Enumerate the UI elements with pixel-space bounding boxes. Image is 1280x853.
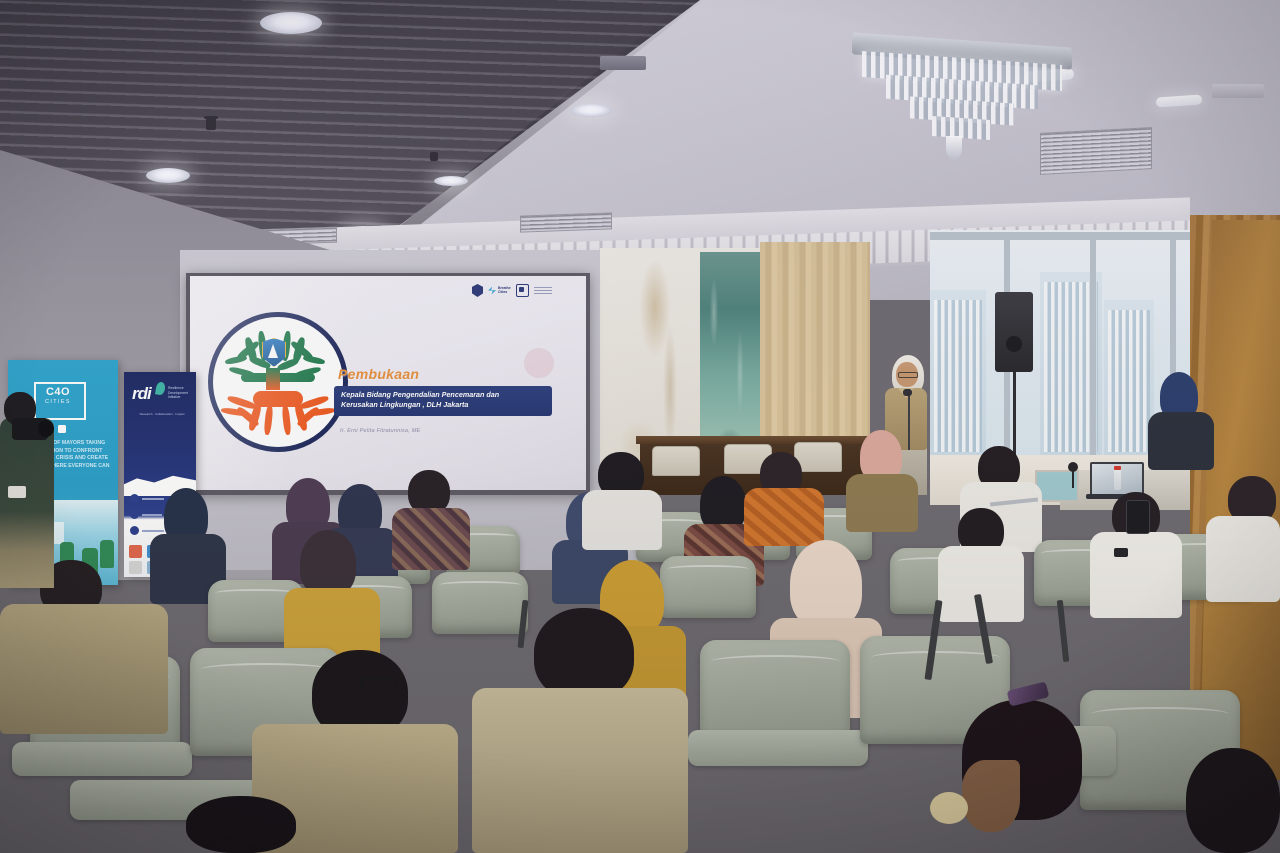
emblem-root [263,405,273,436]
jakarta-emblem-logo [472,284,483,297]
rdi-tagline: Research · Collaboration · Impact [134,412,190,416]
c40-brand-sublabel: CITIES [34,399,82,405]
slide-speaker-name: Ir. Erni Pelita Fitratunnisa, ME [340,428,540,434]
sprinkler-icon [430,152,438,161]
rdi-text-line [142,530,164,532]
chair[interactable] [432,572,528,634]
speaker-glasses-icon [898,372,918,378]
head-table-chair [652,446,700,476]
attendee-torso-batik [392,508,470,570]
breathe-cities-label-2: Cities [498,291,511,295]
attendee-torso-khaki [0,604,168,734]
illustration-building [54,522,64,544]
attendee-torso-white [1206,516,1280,602]
rdi-brand-label: rdi [132,384,151,404]
ceiling-vent-icon [600,56,646,70]
attendee-head [534,608,634,700]
window-header [930,232,1210,240]
smartphone[interactable] [1126,500,1150,534]
photographer-body [0,418,54,588]
linkedin-icon [58,425,66,433]
window-mullion [1090,232,1096,460]
attendee-torso [846,474,918,532]
watch-icon [1114,548,1128,557]
sprinkler-icon [206,118,216,130]
crystal-chandelier-drop [946,136,962,160]
rdi-text-line [142,498,164,500]
chair-armrest[interactable] [688,730,868,766]
iqair-logo [516,284,529,297]
ceiling-vent-icon [1212,84,1264,98]
downlight-icon [570,104,612,117]
c40-brand-label: C4O [34,386,82,398]
microphone-icon [903,389,912,396]
attendee-head [186,796,296,853]
attendee-torso-orange [744,488,824,546]
attendee-torso-white [1090,532,1182,618]
rdi-bullet-icon [130,494,139,503]
rdi-wordmark-logo [534,287,552,295]
bottle-cap [1114,466,1121,470]
pa-speaker-stand [1013,372,1016,462]
chair[interactable] [660,556,756,618]
slide-subtitle-line-1: Kepala Bidang Pengendalian Pencemaran da… [341,390,545,400]
rdi-tile-icon [129,545,142,558]
water-bottle [1114,468,1121,490]
rdi-bullet-icon [130,510,139,519]
slide-subtitle-band: Kepala Bidang Pengendalian Pencemaran da… [334,386,552,416]
chair-armrest[interactable] [12,742,192,776]
ac-grille-icon [520,212,612,232]
downlight-icon [260,12,322,34]
attendee-hijab [790,540,862,628]
breathe-cities-mark-icon [488,287,496,295]
slide-heading: Pembukaan [338,366,419,382]
pa-speaker-cone [1006,336,1022,352]
downlight-icon [434,176,468,186]
attendee-torso-khaki [472,688,688,853]
breathe-cities-logo: Breathe Cities [488,287,511,295]
ac-grille-icon [1040,127,1152,175]
eyeglasses-icon [360,678,398,694]
attendee-face [962,760,1020,832]
emblem-trunk [266,368,280,390]
attendee-torso-white [582,490,662,550]
attendee-head [1186,748,1280,853]
rdi-brand-fullname: Resilience Development Initiative [168,386,194,400]
sprinkler-icon [204,116,218,119]
downlight-icon [146,168,190,183]
illustration-tree [100,540,114,568]
attendee-hijab [300,530,356,596]
pastry-snack [930,792,968,824]
attendee-torso [1148,412,1214,470]
microphone-stand [908,395,910,450]
rdi-tile-icon [129,561,142,574]
camera-lens-icon [38,420,54,437]
emblem-branch [225,355,248,365]
chair-leg [1057,600,1069,662]
rdi-text-line [142,514,162,516]
emblem-root [281,405,291,436]
slide-decorative-circle [524,348,554,378]
slide-logo-row: Breathe Cities [472,284,552,297]
desk-microphone-stem [1072,470,1074,488]
building-windows [934,300,982,452]
pa-loudspeaker [995,292,1033,372]
building-windows [1108,310,1150,452]
emblem-branch [303,355,326,365]
slide-subtitle-line-2: Kerusakan Lingkungan , DLH Jakarta [341,400,545,410]
rdi-bullet-icon [130,526,139,535]
conference-room-photo: Breathe Cities [0,0,1280,853]
photographer-badge [8,486,26,498]
